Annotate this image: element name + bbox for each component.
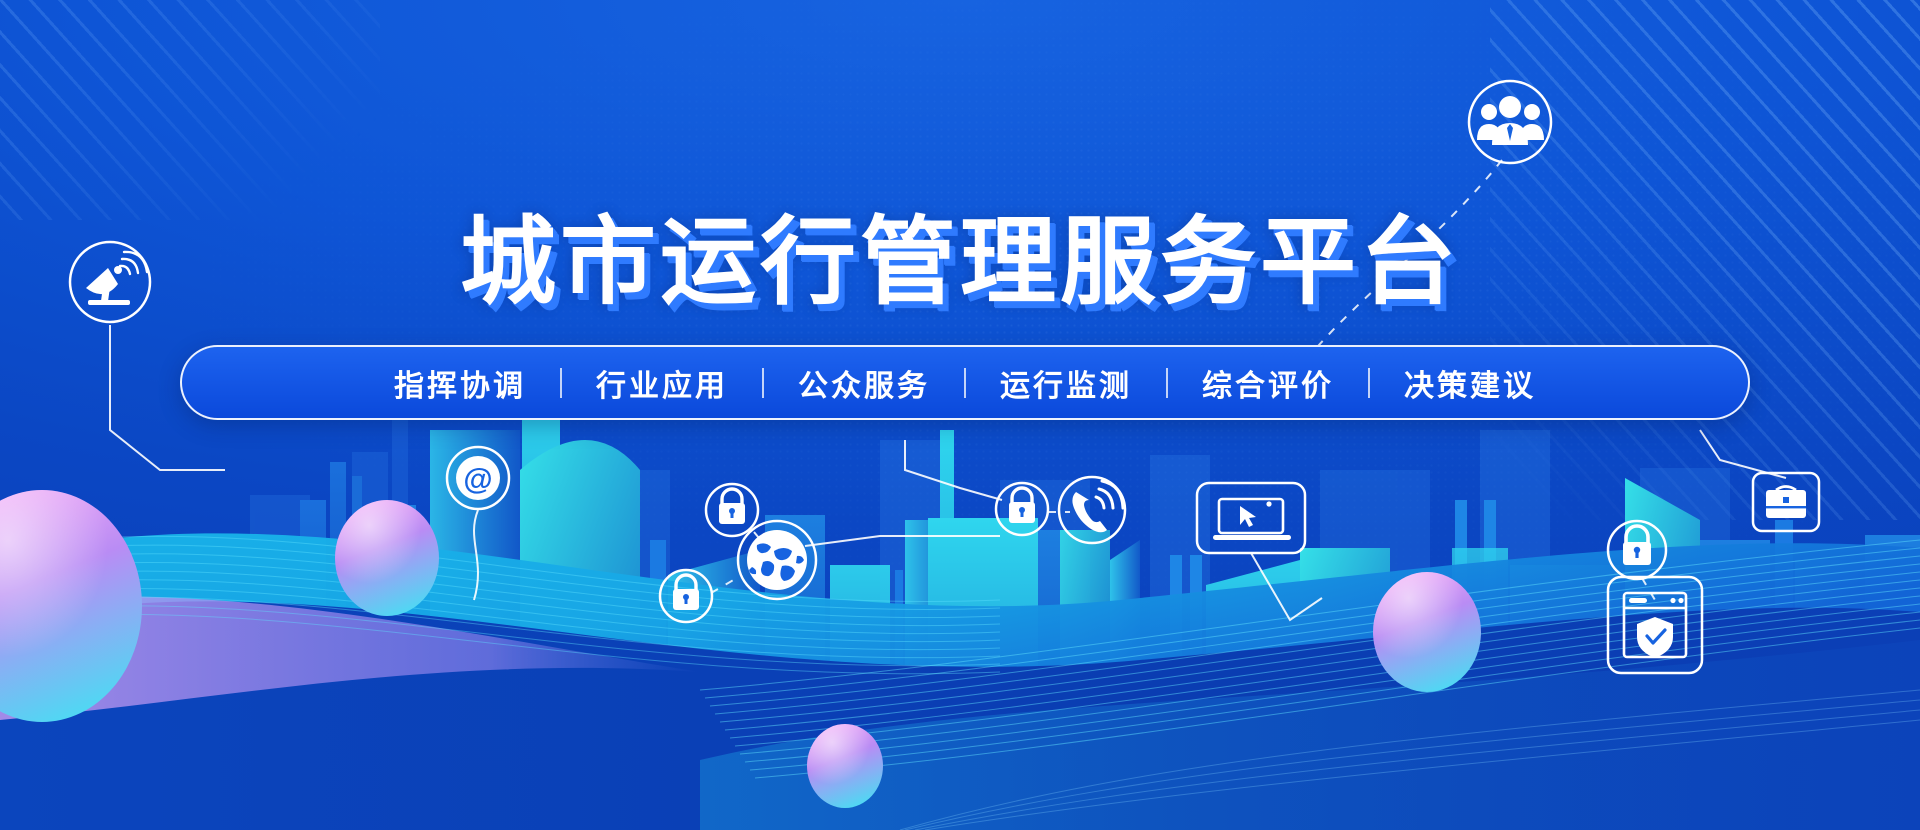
nav-item-1[interactable]: 指挥协调 bbox=[360, 361, 560, 405]
lock-icon-a bbox=[706, 484, 758, 536]
at-sign-icon: @ bbox=[447, 447, 509, 509]
nav-item-2[interactable]: 行业应用 bbox=[562, 361, 762, 405]
nav-item-5[interactable]: 综合评价 bbox=[1168, 361, 1368, 405]
nav-item-3[interactable]: 公众服务 bbox=[764, 361, 964, 405]
page-title: 城市运行管理服务平台 bbox=[460, 212, 1460, 314]
svg-text:@: @ bbox=[463, 463, 492, 496]
page-title-wrapper: 城市运行管理服务平台 bbox=[0, 148, 1920, 378]
nav-item-4[interactable]: 运行监测 bbox=[966, 361, 1166, 405]
main-nav[interactable]: 指挥协调行业应用公众服务运行监测综合评价决策建议 bbox=[180, 345, 1750, 420]
globe-icon bbox=[738, 521, 816, 599]
nav-item-6[interactable]: 决策建议 bbox=[1370, 361, 1570, 405]
laptop-cursor-icon bbox=[1197, 483, 1305, 553]
banner-root: @ bbox=[0, 0, 1920, 830]
